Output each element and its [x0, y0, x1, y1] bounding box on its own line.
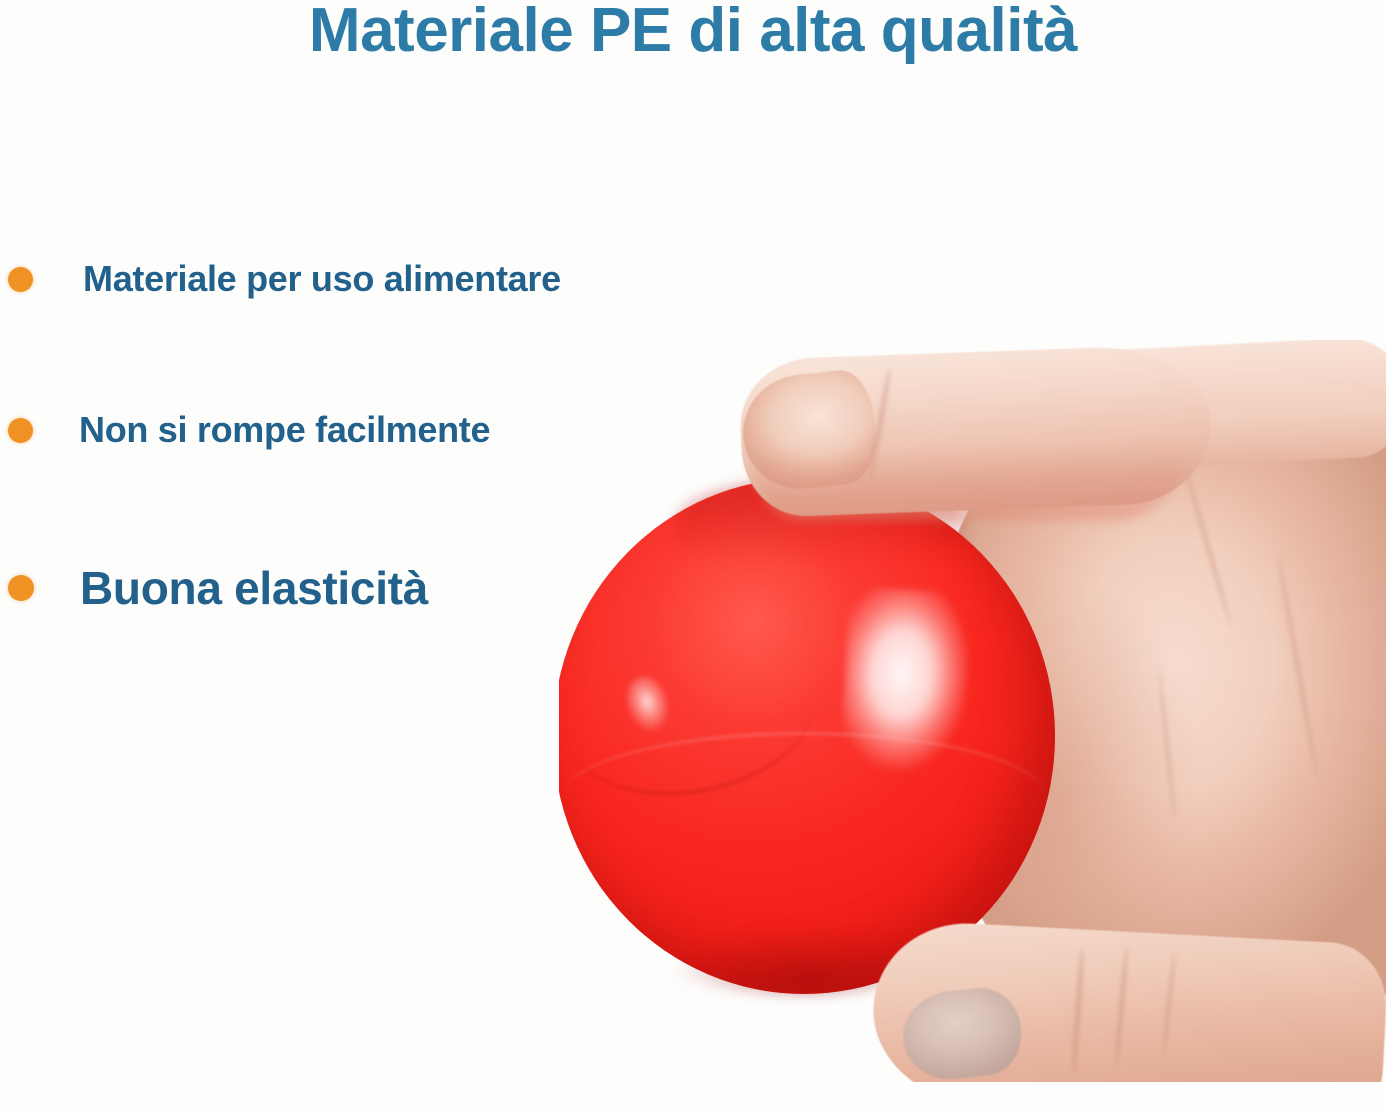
photo-background: [505, 1082, 1386, 1113]
ball-specular-highlight: [840, 587, 971, 775]
ball-seam-line: [561, 732, 1047, 865]
list-item: Materiale per uso alimentare: [8, 258, 561, 300]
bullet-dot-icon: [8, 418, 33, 443]
finger-shading: [755, 448, 1185, 520]
bullet-dot-icon: [8, 575, 34, 601]
bullet-dot-icon: [8, 267, 33, 292]
photo-background: [505, 340, 559, 1113]
product-feature-panel: Materiale PE di alta qualità Materiale p…: [0, 0, 1386, 1113]
list-item: Non si rompe facilmente: [8, 409, 490, 451]
feature-label: Non si rompe facilmente: [79, 409, 490, 451]
hand-holding-red-ball-photo: [505, 340, 1386, 1113]
list-item: Buona elasticità: [8, 561, 428, 615]
feature-label: Buona elasticità: [80, 561, 428, 615]
feature-label: Materiale per uso alimentare: [83, 258, 561, 300]
